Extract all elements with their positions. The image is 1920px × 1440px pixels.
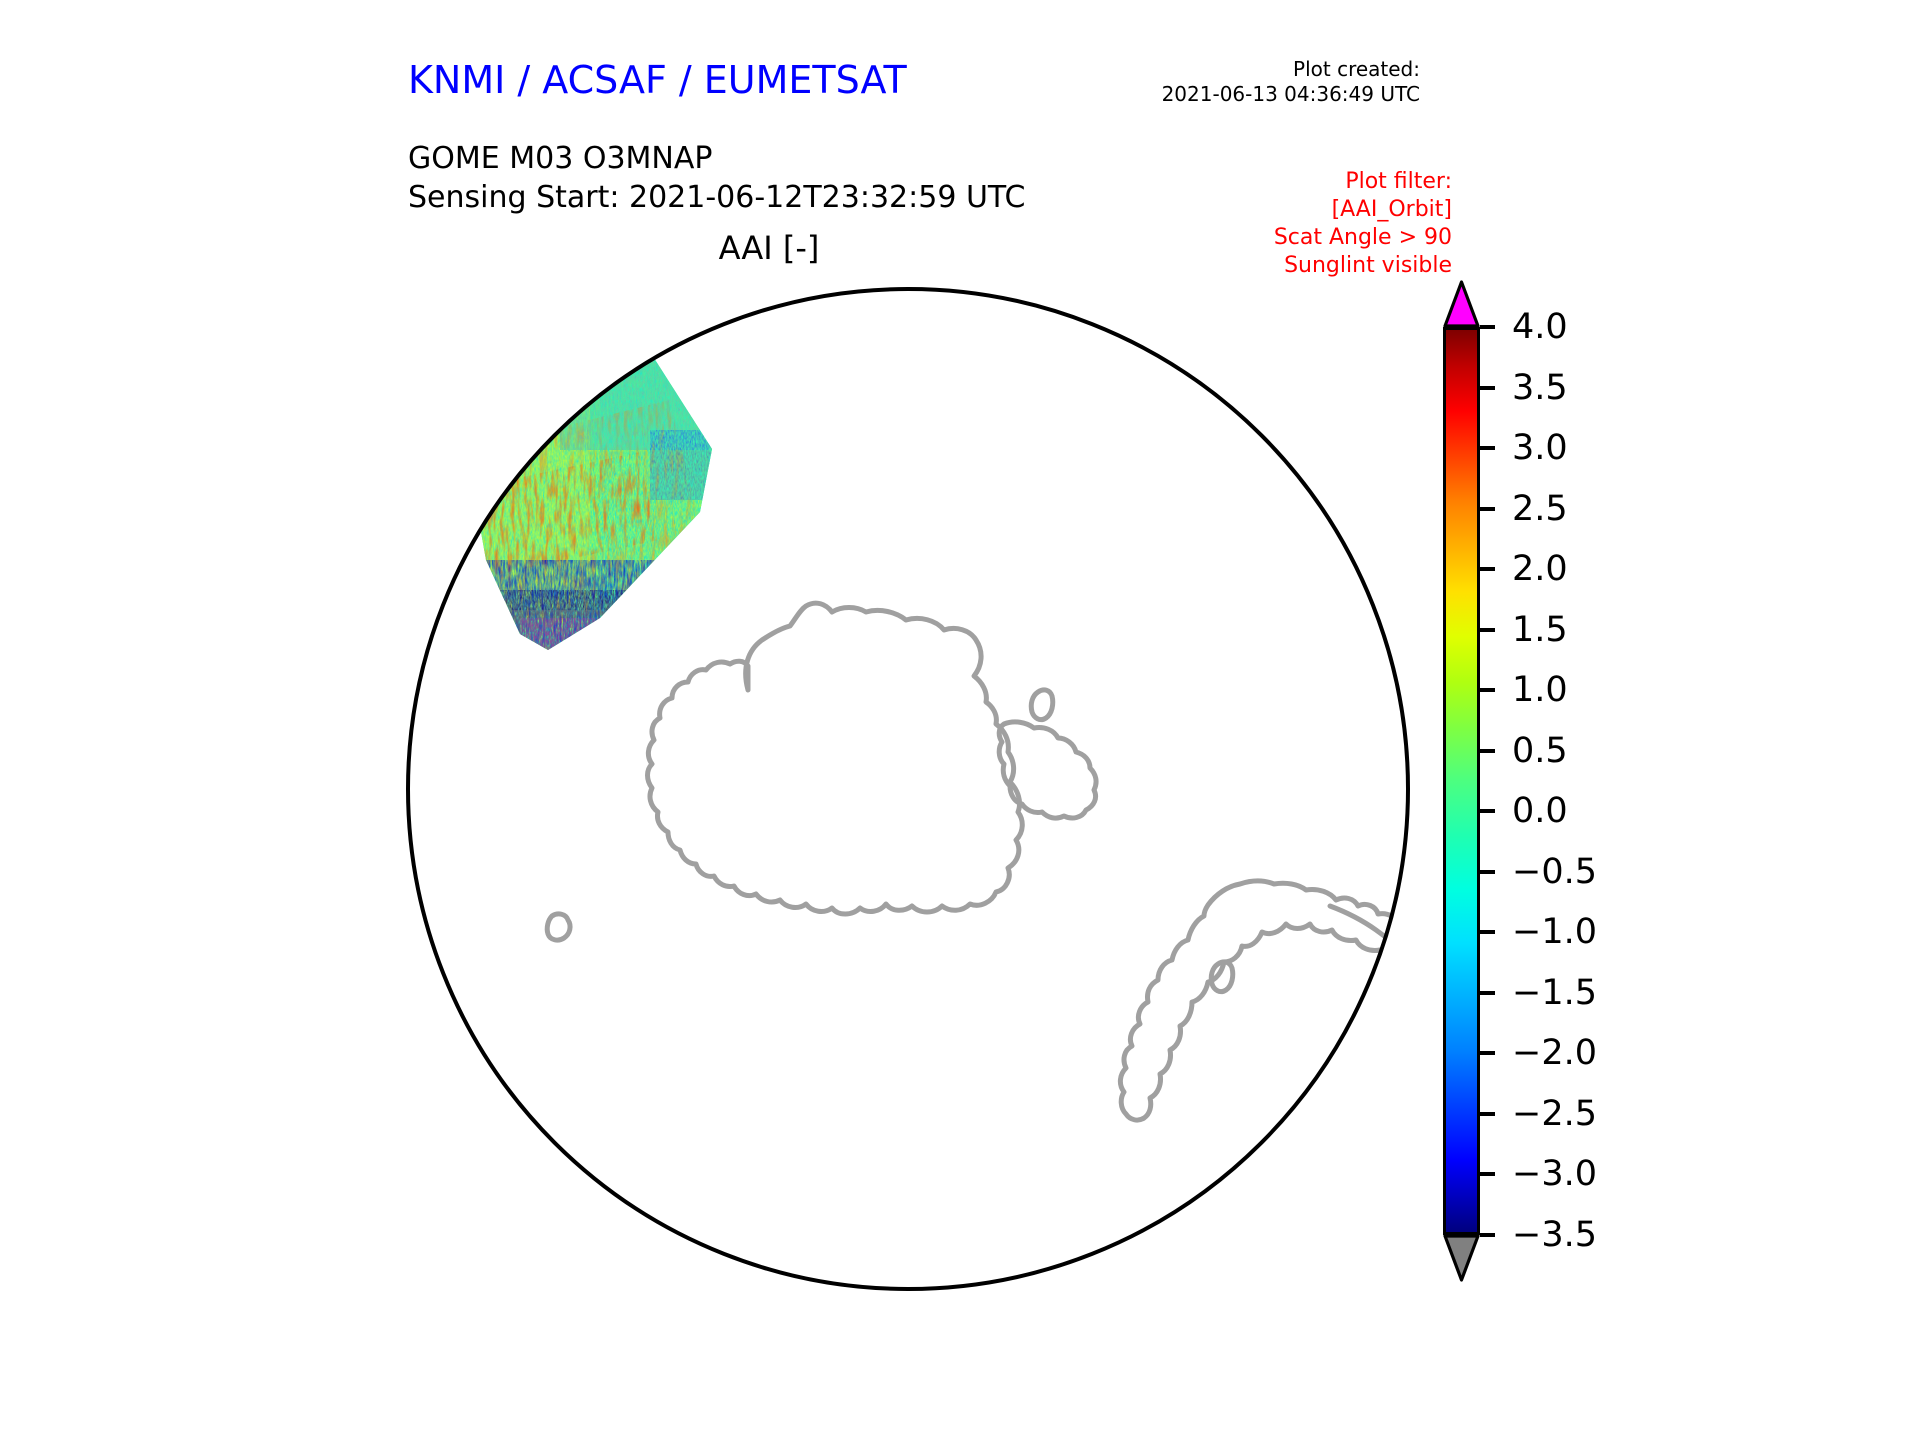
colorbar-tick-mark — [1480, 930, 1495, 934]
coastline-antarctica — [648, 603, 1023, 914]
coastline-island-northwest-b — [685, 235, 713, 270]
colorbar-tick-label: 0.0 — [1512, 788, 1568, 834]
data-swath-group — [412, 250, 787, 710]
colorbar-tick-label: −3.5 — [1512, 1212, 1597, 1258]
colorbar-tick-label: −2.0 — [1512, 1030, 1597, 1076]
colorbar-tick-mark — [1480, 1112, 1495, 1116]
colorbar-tick-label: 1.5 — [1512, 607, 1568, 653]
coastline-island-northwest-a — [633, 313, 672, 349]
colorbar-tick-mark — [1480, 749, 1495, 753]
colorbar-tick-label: 2.0 — [1512, 546, 1568, 592]
colorbar-under-arrow — [1443, 1234, 1480, 1282]
colorbar-tick-label: 2.5 — [1512, 486, 1568, 532]
colorbar-tick-mark — [1480, 507, 1495, 511]
colorbar-tick-mark — [1480, 991, 1495, 995]
colorbar-tick-label: 3.0 — [1512, 425, 1568, 471]
coastline-peter-island — [547, 914, 570, 940]
colorbar-tick-mark — [1480, 446, 1495, 450]
colorbar-tick-label: −1.0 — [1512, 909, 1597, 955]
coastlines — [547, 235, 1420, 1121]
plot-page: KNMI / ACSAF / EUMETSAT Plot created: 20… — [0, 0, 1920, 1440]
colorbar-ticks: 4.03.53.02.52.01.51.00.50.0−0.5−1.0−1.5−… — [1480, 327, 1700, 1235]
colorbar-tick-label: −3.0 — [1512, 1151, 1597, 1197]
colorbar-tick-label: −2.5 — [1512, 1091, 1597, 1137]
colorbar-tick-mark — [1480, 386, 1495, 390]
colorbar: 4.03.53.02.52.01.51.00.50.0−0.5−1.0−1.5−… — [1440, 280, 1700, 1300]
colorbar-tick-label: 4.0 — [1512, 304, 1568, 350]
colorbar-tick-label: 1.0 — [1512, 667, 1568, 713]
colorbar-tick-label: 3.5 — [1512, 365, 1568, 411]
coastline-alexander-island — [1031, 690, 1053, 720]
colorbar-tick-mark — [1480, 870, 1495, 874]
colorbar-tick-mark — [1480, 688, 1495, 692]
colorbar-tick-mark — [1480, 809, 1495, 813]
colorbar-tick-mark — [1480, 1233, 1495, 1237]
colorbar-tick-label: −1.5 — [1512, 970, 1597, 1016]
coastline-south-america — [1120, 881, 1420, 1120]
aai-swath — [412, 250, 787, 710]
colorbar-over-arrow — [1443, 280, 1480, 328]
colorbar-tick-mark — [1480, 325, 1495, 329]
colorbar-tick-label: 0.5 — [1512, 728, 1568, 774]
colorbar-tick-mark — [1480, 567, 1495, 571]
colorbar-tick-label: −0.5 — [1512, 849, 1597, 895]
colorbar-tick-mark — [1480, 1051, 1495, 1055]
colorbar-tick-mark — [1480, 1172, 1495, 1176]
colorbar-tick-mark — [1480, 628, 1495, 632]
colorbar-gradient — [1443, 327, 1480, 1235]
